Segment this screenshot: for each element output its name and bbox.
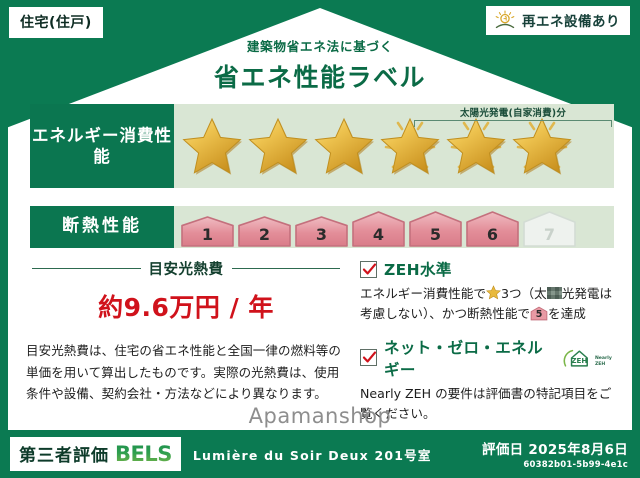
solar-annotation: 太陽光発電(自家消費)分 bbox=[414, 105, 612, 127]
solar-sun-icon bbox=[493, 10, 517, 30]
insulation-grade-2: 2 bbox=[237, 215, 292, 248]
energy-performance-label: エネルギー消費性能 bbox=[30, 104, 174, 188]
energy-performance-row: エネルギー消費性能 bbox=[30, 104, 614, 188]
cost-value: 約9.6万円 / 年 bbox=[26, 288, 346, 324]
check-icon bbox=[362, 262, 377, 277]
label-subtitle: 建築物省エネ法に基づく bbox=[0, 36, 640, 55]
insulation-grade-7: 7 bbox=[522, 210, 577, 248]
evaluation-date: 評価日 2025年8月6日 bbox=[482, 438, 628, 458]
inline-grade-badge: 5 bbox=[530, 306, 548, 321]
zeh-logo-subtext: Nearly ZEH bbox=[595, 356, 620, 369]
footer-bar: 第三者評価 BELS Lumière du Soir Deux 201号室 評価… bbox=[0, 430, 640, 478]
renewable-badge-label: 再エネ設備あり bbox=[522, 10, 620, 30]
insulation-performance-label: 断熱性能 bbox=[30, 206, 174, 248]
cost-heading-label: 目安光熱費 bbox=[149, 258, 224, 279]
insulation-grade-4: 4 bbox=[351, 210, 406, 248]
housing-type-tag: 住宅(住戸) bbox=[9, 7, 103, 38]
bels-tag-jp: 第三者評価 bbox=[19, 441, 109, 466]
insulation-performance-row: 断熱性能 1 bbox=[30, 206, 614, 248]
check-icon bbox=[362, 350, 377, 365]
insulation-performance-panel: 1 2 bbox=[174, 206, 614, 248]
star-3 bbox=[312, 115, 376, 177]
svg-text:ZEH: ZEH bbox=[571, 356, 587, 365]
solar-annotation-label: 太陽光発電(自家消費)分 bbox=[414, 105, 612, 119]
cost-heading: 目安光熱費 bbox=[26, 258, 346, 279]
redacted-text-block bbox=[547, 287, 562, 299]
zeh-house-logo: ZEH Nearly ZEH bbox=[562, 347, 620, 369]
net-zero-energy-body: Nearly ZEH の要件は評価書の特記項目をご覧ください。 bbox=[360, 384, 620, 425]
check-item-net-zero-energy: ネット・ゼロ・エネルギー ZEH Nearly ZEH Nearly ZEH の… bbox=[360, 336, 620, 425]
checks-column: ZEH水準 エネルギー消費性能で3つ（太光発電は考慮しない）、かつ断熱性能で5を… bbox=[346, 258, 620, 436]
evaluation-info: 評価日 2025年8月6日 60382b01-5b99-4e1c bbox=[482, 438, 628, 470]
insulation-grade-5: 5 bbox=[408, 210, 463, 248]
check-item-zeh-standard: ZEH水準 エネルギー消費性能で3つ（太光発電は考慮しない）、かつ断熱性能で5を… bbox=[360, 258, 620, 325]
inline-star-icon bbox=[486, 285, 501, 300]
checkbox-net-zero-energy[interactable] bbox=[360, 349, 377, 366]
insulation-grade-scale: 1 2 bbox=[174, 206, 577, 248]
energy-label-root: 住宅(住戸) 再エネ設備あり 建築物省エネ法に基づく 省エネ性能ラベル bbox=[0, 0, 640, 478]
bels-tag-en: BELS bbox=[115, 442, 172, 466]
net-zero-energy-title: ネット・ゼロ・エネルギー bbox=[384, 336, 551, 380]
lower-content: 目安光熱費 約9.6万円 / 年 目安光熱費は、住宅の省エネ性能と全国一律の燃料… bbox=[26, 258, 620, 436]
bels-evaluation-tag: 第三者評価 BELS bbox=[10, 437, 181, 471]
star-2 bbox=[246, 115, 310, 177]
insulation-grade-1: 1 bbox=[180, 215, 235, 248]
zeh-standard-header: ZEH水準 bbox=[360, 258, 620, 280]
net-zero-energy-header: ネット・ゼロ・エネルギー ZEH Nearly ZEH bbox=[360, 336, 620, 380]
evaluation-id: 60382b01-5b99-4e1c bbox=[482, 460, 628, 470]
insulation-grade-3: 3 bbox=[294, 215, 349, 248]
cost-column: 目安光熱費 約9.6万円 / 年 目安光熱費は、住宅の省エネ性能と全国一律の燃料… bbox=[26, 258, 346, 436]
checkbox-zeh-standard[interactable] bbox=[360, 261, 377, 278]
renewable-equipment-badge: 再エネ設備あり bbox=[486, 6, 630, 35]
cost-rule-left bbox=[32, 268, 141, 270]
title-block: 建築物省エネ法に基づく 省エネ性能ラベル bbox=[0, 36, 640, 94]
zeh-logo-icon: ZEH bbox=[562, 347, 593, 369]
insulation-grade-6: 6 bbox=[465, 210, 520, 248]
energy-performance-panel: 太陽光発電(自家消費)分 bbox=[174, 104, 614, 188]
cost-rule-right bbox=[232, 268, 341, 270]
star-1 bbox=[180, 115, 244, 177]
solar-annotation-bracket bbox=[414, 120, 612, 127]
zeh-standard-title: ZEH水準 bbox=[384, 258, 452, 280]
cost-note: 目安光熱費は、住宅の省エネ性能と全国一律の燃料等の単価を用いて算出したものです。… bbox=[26, 340, 346, 405]
building-name: Lumière du Soir Deux 201号室 bbox=[193, 445, 432, 464]
page-title: 省エネ性能ラベル bbox=[0, 58, 640, 94]
zeh-standard-body: エネルギー消費性能で3つ（太光発電は考慮しない）、かつ断熱性能で5を達成 bbox=[360, 284, 620, 325]
